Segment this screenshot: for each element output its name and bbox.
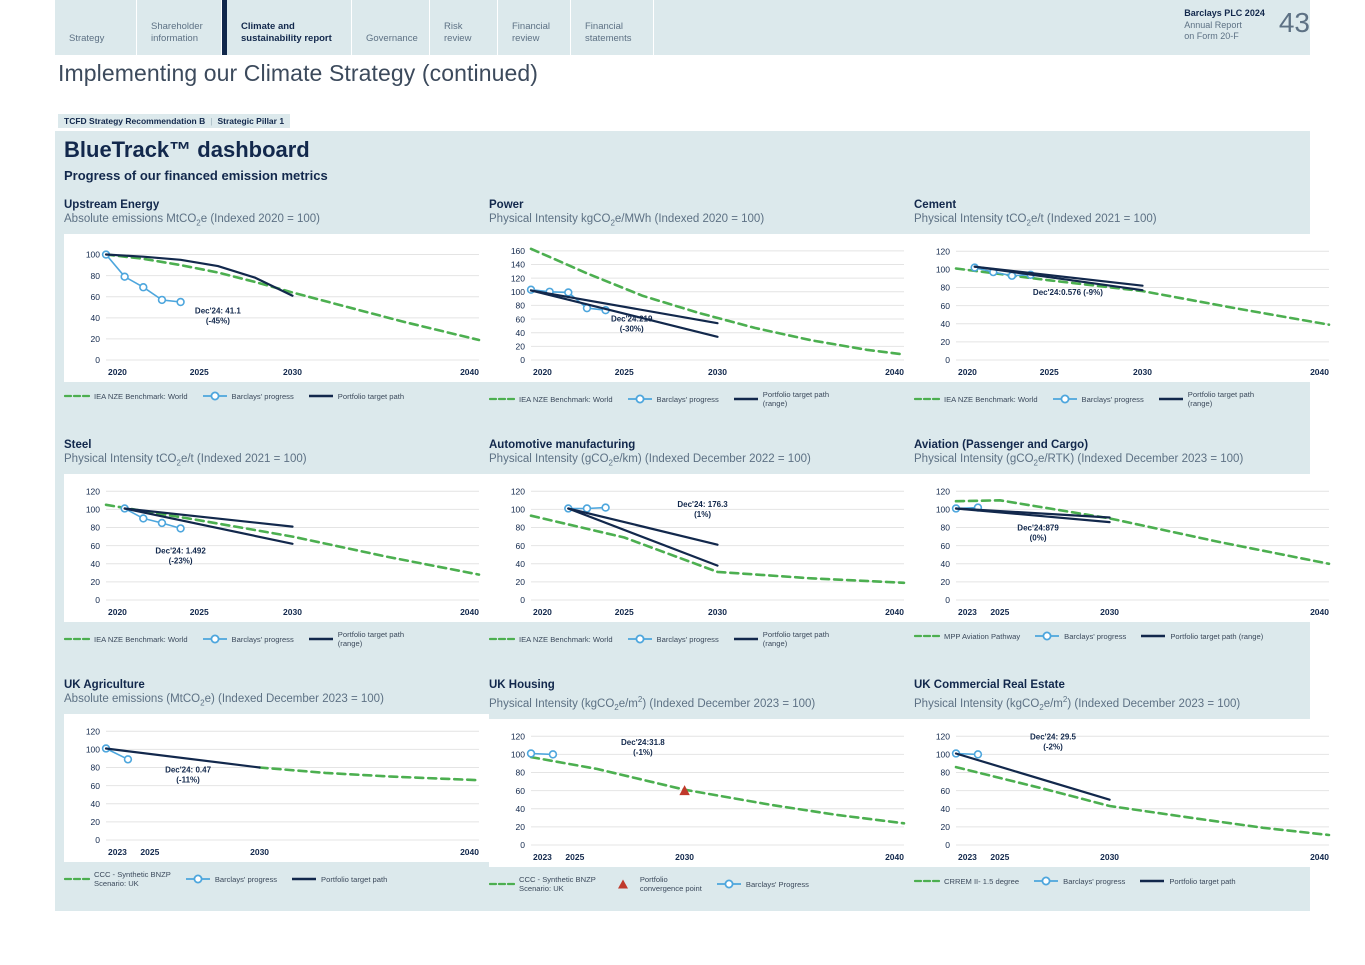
- svg-text:2040: 2040: [1310, 607, 1329, 617]
- chart-legend: IEA NZE Benchmark: WorldBarclays' progre…: [64, 630, 489, 648]
- report-subtitle-2: on Form 20-F: [1184, 31, 1265, 43]
- svg-text:120: 120: [511, 487, 525, 497]
- legend-item: CCC - Synthetic BNZP Scenario: UK: [489, 875, 596, 893]
- svg-text:0: 0: [945, 595, 950, 605]
- legend-swatch-solid-navy-icon: [1140, 630, 1166, 642]
- legend-label: Portfolio target path (range): [1170, 632, 1263, 641]
- tab-strategy[interactable]: Strategy: [55, 0, 137, 55]
- legend-label: IEA NZE Benchmark: World: [519, 395, 613, 404]
- legend-swatch-solid-navy-icon: [1158, 393, 1184, 405]
- svg-text:100: 100: [86, 745, 100, 755]
- svg-text:(-30%): (-30%): [620, 325, 644, 334]
- legend-label: Barclays' progress: [1064, 632, 1126, 641]
- svg-text:2040: 2040: [885, 852, 904, 862]
- legend-label: Portfolio target path (range): [1188, 390, 1254, 408]
- legend-label: MPP Aviation Pathway: [944, 632, 1020, 641]
- svg-text:2023: 2023: [533, 852, 552, 862]
- svg-text:120: 120: [86, 487, 100, 497]
- svg-text:2020: 2020: [108, 367, 127, 377]
- tab-label: Strategy: [69, 33, 104, 45]
- legend-swatch-solid-navy-icon: [308, 390, 334, 402]
- svg-text:(-2%): (-2%): [1043, 743, 1063, 752]
- svg-text:2030: 2030: [675, 852, 694, 862]
- legend-item: Portfolio target path: [291, 873, 387, 885]
- svg-text:0: 0: [95, 595, 100, 605]
- legend-swatch-marker-blue-icon: [202, 633, 228, 645]
- legend-item: Portfolio target path (range): [1140, 630, 1263, 642]
- chart-title: Upstream Energy: [64, 198, 489, 212]
- legend-item: Barclays' progress: [627, 633, 719, 645]
- legend-item: Barclays' progress: [202, 390, 294, 402]
- svg-text:2030: 2030: [1100, 852, 1119, 862]
- chart-card-upstream-energy: Upstream EnergyAbsolute emissions MtCO2e…: [64, 198, 489, 402]
- strategic-pillar-label: Strategic Pillar 1: [217, 116, 284, 126]
- svg-text:20: 20: [941, 337, 951, 347]
- svg-text:2025: 2025: [990, 607, 1009, 617]
- svg-text:(-45%): (-45%): [206, 317, 230, 326]
- svg-text:2040: 2040: [885, 607, 904, 617]
- legend-swatch-marker-blue-icon: [185, 873, 211, 885]
- legend-label: IEA NZE Benchmark: World: [94, 392, 188, 401]
- tab-shareholder-information[interactable]: Shareholder information: [137, 0, 222, 55]
- svg-text:120: 120: [936, 247, 950, 257]
- legend-item: Barclays' progress: [627, 393, 719, 405]
- svg-text:2030: 2030: [708, 367, 727, 377]
- svg-text:40: 40: [941, 559, 951, 569]
- legend-label: Portfolio target path (range): [763, 390, 829, 408]
- plot-area: 0204060801001202023202520302040Dec'24:31…: [489, 719, 914, 867]
- svg-text:(-1%): (-1%): [633, 748, 653, 757]
- svg-text:2023: 2023: [108, 847, 127, 857]
- chart-card-automotive: Automotive manufacturingPhysical Intensi…: [489, 438, 914, 648]
- legend-label: Barclays' progress: [1082, 395, 1144, 404]
- svg-text:0: 0: [945, 840, 950, 850]
- chart-legend: CRREM II- 1.5 degreeBarclays' progressPo…: [914, 875, 1339, 887]
- svg-text:120: 120: [86, 727, 100, 737]
- tab-label: Governance: [366, 33, 418, 45]
- svg-text:100: 100: [511, 287, 525, 297]
- svg-text:40: 40: [516, 328, 526, 338]
- legend-label: Barclays' progress: [232, 635, 294, 644]
- svg-text:0: 0: [520, 595, 525, 605]
- panel-title: BlueTrack™ dashboard: [64, 137, 310, 163]
- svg-text:2030: 2030: [708, 607, 727, 617]
- svg-text:60: 60: [516, 786, 526, 796]
- header-right: Barclays PLC 2024 Annual Report on Form …: [1184, 8, 1310, 43]
- svg-text:40: 40: [941, 319, 951, 329]
- svg-text:80: 80: [91, 523, 101, 533]
- legend-swatch-marker-blue-icon: [1052, 393, 1078, 405]
- page-title: Implementing our Climate Strategy (conti…: [58, 60, 538, 87]
- svg-text:Dec'24: 41.1: Dec'24: 41.1: [195, 307, 241, 316]
- svg-text:140: 140: [511, 260, 525, 270]
- svg-text:0: 0: [95, 355, 100, 365]
- svg-text:80: 80: [516, 768, 526, 778]
- svg-text:2020: 2020: [533, 367, 552, 377]
- legend-swatch-dashed-green-icon: [64, 633, 90, 645]
- svg-text:2025: 2025: [565, 852, 584, 862]
- chart-subtitle: Physical Intensity (gCO2e/RTK) (Indexed …: [914, 452, 1339, 470]
- report-subtitle-1: Annual Report: [1184, 20, 1265, 32]
- legend-item: Portfolio target path (range): [733, 390, 829, 408]
- svg-text:40: 40: [91, 313, 101, 323]
- chip-separator: |: [210, 116, 212, 126]
- tcfd-recommendation-label: TCFD Strategy Recommendation B: [64, 116, 205, 126]
- legend-item: IEA NZE Benchmark: World: [489, 393, 613, 405]
- legend-swatch-red-triangle-icon: [610, 878, 636, 890]
- legend-swatch-solid-navy-icon: [733, 393, 759, 405]
- svg-text:(0%): (0%): [1030, 534, 1047, 543]
- tab-climate-and-sustainability-report[interactable]: Climate and sustainability report: [222, 0, 352, 55]
- legend-swatch-solid-navy-icon: [1139, 875, 1165, 887]
- chart-legend: IEA NZE Benchmark: WorldBarclays' progre…: [489, 630, 914, 648]
- legend-label: Barclays' Progress: [746, 880, 809, 889]
- chart-title: UK Housing: [489, 678, 914, 692]
- legend-swatch-marker-blue-icon: [1033, 875, 1059, 887]
- plot-area: 0204060801001202023202520302040Dec'24: 0…: [64, 714, 489, 862]
- svg-text:40: 40: [91, 559, 101, 569]
- legend-label: Portfolio target path (range): [763, 630, 829, 648]
- svg-text:(1%): (1%): [694, 510, 711, 519]
- svg-text:100: 100: [936, 505, 950, 515]
- svg-text:80: 80: [941, 523, 951, 533]
- svg-text:2025: 2025: [190, 367, 209, 377]
- chart-legend: CCC - Synthetic BNZP Scenario: UKBarclay…: [64, 870, 489, 888]
- report-meta: Barclays PLC 2024 Annual Report on Form …: [1184, 8, 1265, 43]
- svg-text:80: 80: [91, 271, 101, 281]
- chart-card-power: PowerPhysical Intensity kgCO2e/MWh (Inde…: [489, 198, 914, 408]
- svg-text:0: 0: [520, 355, 525, 365]
- svg-text:0: 0: [520, 840, 525, 850]
- svg-text:100: 100: [511, 505, 525, 515]
- svg-text:Dec'24: 1.492: Dec'24: 1.492: [155, 547, 206, 556]
- chart-title: Automotive manufacturing: [489, 438, 914, 452]
- svg-text:Dec'24:31.8: Dec'24:31.8: [621, 738, 665, 747]
- tab-financial-statements[interactable]: Financial statements: [571, 0, 654, 55]
- svg-text:120: 120: [511, 274, 525, 284]
- legend-swatch-solid-navy-icon: [733, 633, 759, 645]
- legend-item: Portfolio convergence point: [610, 875, 702, 893]
- legend-item: Barclays' progress: [1033, 875, 1125, 887]
- legend-swatch-dashed-green-icon: [914, 393, 940, 405]
- plot-area: 0204060801001202023202520302040Dec'24:87…: [914, 474, 1339, 622]
- svg-text:2040: 2040: [460, 847, 479, 857]
- legend-swatch-dashed-green-icon: [914, 630, 940, 642]
- chart-title: UK Commercial Real Estate: [914, 678, 1339, 692]
- chart-card-steel: SteelPhysical Intensity tCO2e/t (Indexed…: [64, 438, 489, 648]
- svg-text:Dec'24:219: Dec'24:219: [611, 315, 653, 324]
- svg-text:20: 20: [91, 334, 101, 344]
- svg-text:Dec'24:879: Dec'24:879: [1017, 524, 1059, 533]
- chart-subtitle: Physical Intensity tCO2e/t (Indexed 2021…: [64, 452, 489, 470]
- svg-text:20: 20: [516, 342, 526, 352]
- plot-area: 0204060801001202020202520302040Dec'24:0.…: [914, 234, 1339, 382]
- chart-subtitle: Physical Intensity kgCO2e/MWh (Indexed 2…: [489, 212, 914, 230]
- chart-subtitle: Absolute emissions MtCO2e (Indexed 2020 …: [64, 212, 489, 230]
- legend-label: Portfolio target path: [321, 875, 387, 884]
- legend-swatch-dashed-green-icon: [489, 393, 515, 405]
- legend-swatch-dashed-green-icon: [64, 873, 90, 885]
- svg-text:2030: 2030: [1133, 367, 1152, 377]
- legend-item: CRREM II- 1.5 degree: [914, 875, 1019, 887]
- svg-text:2023: 2023: [958, 607, 977, 617]
- svg-text:2020: 2020: [533, 607, 552, 617]
- legend-label: CCC - Synthetic BNZP Scenario: UK: [94, 870, 171, 888]
- svg-text:40: 40: [516, 804, 526, 814]
- svg-text:20: 20: [91, 577, 101, 587]
- svg-text:2025: 2025: [615, 367, 634, 377]
- svg-text:20: 20: [941, 822, 951, 832]
- legend-label: Barclays' progress: [215, 875, 277, 884]
- panel-subtitle: Progress of our financed emission metric…: [64, 168, 328, 183]
- chart-legend: IEA NZE Benchmark: WorldBarclays' progre…: [489, 390, 914, 408]
- svg-text:60: 60: [91, 292, 101, 302]
- svg-text:2040: 2040: [885, 367, 904, 377]
- legend-label: Barclays' progress: [657, 395, 719, 404]
- legend-label: IEA NZE Benchmark: World: [519, 635, 613, 644]
- svg-text:60: 60: [941, 786, 951, 796]
- chart-title: Steel: [64, 438, 489, 452]
- legend-item: Barclays' progress: [1034, 630, 1126, 642]
- chart-subtitle: Physical Intensity (kgCO2e/m2) (Indexed …: [914, 692, 1339, 715]
- plot-area: 0204060801001202020202520302040Dec'24: 1…: [489, 474, 914, 622]
- legend-item: Portfolio target path (range): [1158, 390, 1254, 408]
- chart-card-uk-agriculture: UK AgricultureAbsolute emissions (MtCO2e…: [64, 678, 489, 888]
- svg-text:100: 100: [936, 265, 950, 275]
- svg-text:2020: 2020: [958, 367, 977, 377]
- svg-text:Dec'24:0.576 (-9%): Dec'24:0.576 (-9%): [1033, 288, 1103, 297]
- page-number: 43: [1279, 8, 1310, 38]
- chart-title: UK Agriculture: [64, 678, 489, 692]
- legend-label: CRREM II- 1.5 degree: [944, 877, 1019, 886]
- svg-text:(-23%): (-23%): [169, 557, 193, 566]
- legend-label: Portfolio target path (range): [338, 630, 404, 648]
- chart-subtitle: Physical Intensity (gCO2e/km) (Indexed D…: [489, 452, 914, 470]
- svg-text:20: 20: [516, 822, 526, 832]
- svg-text:2025: 2025: [990, 852, 1009, 862]
- tab-label: Financial statements: [585, 21, 631, 44]
- svg-text:120: 120: [936, 732, 950, 742]
- svg-text:2030: 2030: [250, 847, 269, 857]
- svg-text:80: 80: [516, 523, 526, 533]
- tab-financial-review[interactable]: Financial review: [498, 0, 571, 55]
- legend-item: Portfolio target path (range): [733, 630, 829, 648]
- svg-text:Dec'24: 176.3: Dec'24: 176.3: [677, 500, 728, 509]
- svg-text:100: 100: [936, 750, 950, 760]
- chart-subtitle: Physical Intensity tCO2e/t (Indexed 2021…: [914, 212, 1339, 230]
- svg-text:120: 120: [511, 732, 525, 742]
- legend-label: Barclays' progress: [1063, 877, 1125, 886]
- svg-text:80: 80: [941, 768, 951, 778]
- legend-item: IEA NZE Benchmark: World: [914, 393, 1038, 405]
- chart-title: Power: [489, 198, 914, 212]
- svg-text:60: 60: [91, 541, 101, 551]
- chart-legend: IEA NZE Benchmark: WorldBarclays' progre…: [64, 390, 489, 402]
- tab-label: Climate and sustainability report: [241, 21, 332, 44]
- svg-text:20: 20: [516, 577, 526, 587]
- legend-label: IEA NZE Benchmark: World: [94, 635, 188, 644]
- legend-swatch-marker-blue-icon: [716, 878, 742, 890]
- legend-swatch-dashed-green-icon: [489, 633, 515, 645]
- svg-text:100: 100: [86, 505, 100, 515]
- svg-text:20: 20: [91, 817, 101, 827]
- chart-card-aviation: Aviation (Passenger and Cargo)Physical I…: [914, 438, 1339, 642]
- svg-text:80: 80: [91, 763, 101, 773]
- legend-swatch-marker-blue-icon: [627, 633, 653, 645]
- svg-text:2030: 2030: [283, 607, 302, 617]
- chart-legend: CCC - Synthetic BNZP Scenario: UKPortfol…: [489, 875, 914, 893]
- legend-swatch-dashed-green-icon: [489, 878, 515, 890]
- svg-text:80: 80: [516, 301, 526, 311]
- legend-item: Barclays' progress: [202, 633, 294, 645]
- legend-label: IEA NZE Benchmark: World: [944, 395, 1038, 404]
- tab-label: Financial review: [512, 21, 550, 44]
- svg-text:Dec'24: 0.47: Dec'24: 0.47: [165, 766, 211, 775]
- svg-text:2025: 2025: [1040, 367, 1059, 377]
- svg-text:40: 40: [516, 559, 526, 569]
- svg-text:2040: 2040: [460, 607, 479, 617]
- svg-text:2030: 2030: [1100, 607, 1119, 617]
- svg-text:2025: 2025: [140, 847, 159, 857]
- svg-text:2040: 2040: [1310, 852, 1329, 862]
- legend-item: Barclays' progress: [185, 873, 277, 885]
- svg-text:60: 60: [91, 781, 101, 791]
- chart-subtitle: Absolute emissions (MtCO2e) (Indexed Dec…: [64, 692, 489, 710]
- legend-swatch-solid-navy-icon: [308, 633, 334, 645]
- svg-text:2040: 2040: [460, 367, 479, 377]
- tab-label: Risk review: [444, 21, 471, 44]
- legend-swatch-marker-blue-icon: [1034, 630, 1060, 642]
- chart-subtitle: Physical Intensity (kgCO2e/m2) (Indexed …: [489, 692, 914, 715]
- plot-area: 0204060801001202023202520302040Dec'24: 2…: [914, 719, 1339, 867]
- svg-text:80: 80: [941, 283, 951, 293]
- legend-item: Barclays' progress: [1052, 393, 1144, 405]
- legend-swatch-dashed-green-icon: [64, 390, 90, 402]
- svg-text:2030: 2030: [283, 367, 302, 377]
- svg-text:40: 40: [91, 799, 101, 809]
- chart-legend: IEA NZE Benchmark: WorldBarclays' progre…: [914, 390, 1339, 408]
- chart-card-uk-commercial-real-estate: UK Commercial Real EstatePhysical Intens…: [914, 678, 1339, 887]
- legend-label: Barclays' progress: [657, 635, 719, 644]
- svg-text:100: 100: [86, 250, 100, 260]
- plot-area: 0204060801001201401602020202520302040Dec…: [489, 234, 914, 382]
- legend-item: IEA NZE Benchmark: World: [489, 633, 613, 645]
- svg-text:0: 0: [945, 355, 950, 365]
- legend-item: Portfolio target path (range): [308, 630, 404, 648]
- svg-text:2025: 2025: [615, 607, 634, 617]
- svg-text:2025: 2025: [190, 607, 209, 617]
- chart-card-cement: CementPhysical Intensity tCO2e/t (Indexe…: [914, 198, 1339, 408]
- svg-text:2020: 2020: [108, 607, 127, 617]
- legend-label: Portfolio convergence point: [640, 875, 702, 893]
- report-title: Barclays PLC 2024: [1184, 8, 1265, 20]
- tab-governance[interactable]: Governance: [352, 0, 430, 55]
- svg-text:20: 20: [941, 577, 951, 587]
- page-header: Strategy Shareholder information Climate…: [55, 0, 1310, 55]
- svg-text:60: 60: [516, 315, 526, 325]
- svg-text:(-11%): (-11%): [176, 776, 200, 785]
- tcfd-chip: TCFD Strategy Recommendation B | Strateg…: [58, 114, 290, 128]
- legend-swatch-marker-blue-icon: [627, 393, 653, 405]
- svg-text:Dec'24: 29.5: Dec'24: 29.5: [1030, 733, 1076, 742]
- svg-text:100: 100: [511, 750, 525, 760]
- svg-text:60: 60: [941, 541, 951, 551]
- svg-text:60: 60: [941, 301, 951, 311]
- svg-text:40: 40: [941, 804, 951, 814]
- chart-legend: MPP Aviation PathwayBarclays' progressPo…: [914, 630, 1339, 642]
- legend-item: Portfolio target path: [1139, 875, 1235, 887]
- legend-label: Portfolio target path: [1169, 877, 1235, 886]
- chart-card-uk-housing: UK HousingPhysical Intensity (kgCO2e/m2)…: [489, 678, 914, 893]
- chart-title: Cement: [914, 198, 1339, 212]
- legend-label: Barclays' progress: [232, 392, 294, 401]
- plot-area: 0204060801001202020202520302040Dec'24: 1…: [64, 474, 489, 622]
- svg-text:60: 60: [516, 541, 526, 551]
- legend-item: CCC - Synthetic BNZP Scenario: UK: [64, 870, 171, 888]
- tab-label: Shareholder information: [151, 21, 203, 44]
- legend-item: IEA NZE Benchmark: World: [64, 390, 188, 402]
- legend-label: Portfolio target path: [338, 392, 404, 401]
- tab-risk-review[interactable]: Risk review: [430, 0, 498, 55]
- plot-area: 0204060801002020202520302040Dec'24: 41.1…: [64, 234, 489, 382]
- legend-item: IEA NZE Benchmark: World: [64, 633, 188, 645]
- legend-item: Portfolio target path: [308, 390, 404, 402]
- legend-swatch-dashed-green-icon: [914, 875, 940, 887]
- legend-item: Barclays' Progress: [716, 878, 809, 890]
- legend-label: CCC - Synthetic BNZP Scenario: UK: [519, 875, 596, 893]
- legend-swatch-marker-blue-icon: [202, 390, 228, 402]
- chart-title: Aviation (Passenger and Cargo): [914, 438, 1339, 452]
- svg-text:2040: 2040: [1310, 367, 1329, 377]
- legend-swatch-solid-navy-icon: [291, 873, 317, 885]
- legend-item: MPP Aviation Pathway: [914, 630, 1020, 642]
- svg-text:0: 0: [95, 835, 100, 845]
- svg-text:160: 160: [511, 246, 525, 256]
- svg-text:2023: 2023: [958, 852, 977, 862]
- svg-text:120: 120: [936, 487, 950, 497]
